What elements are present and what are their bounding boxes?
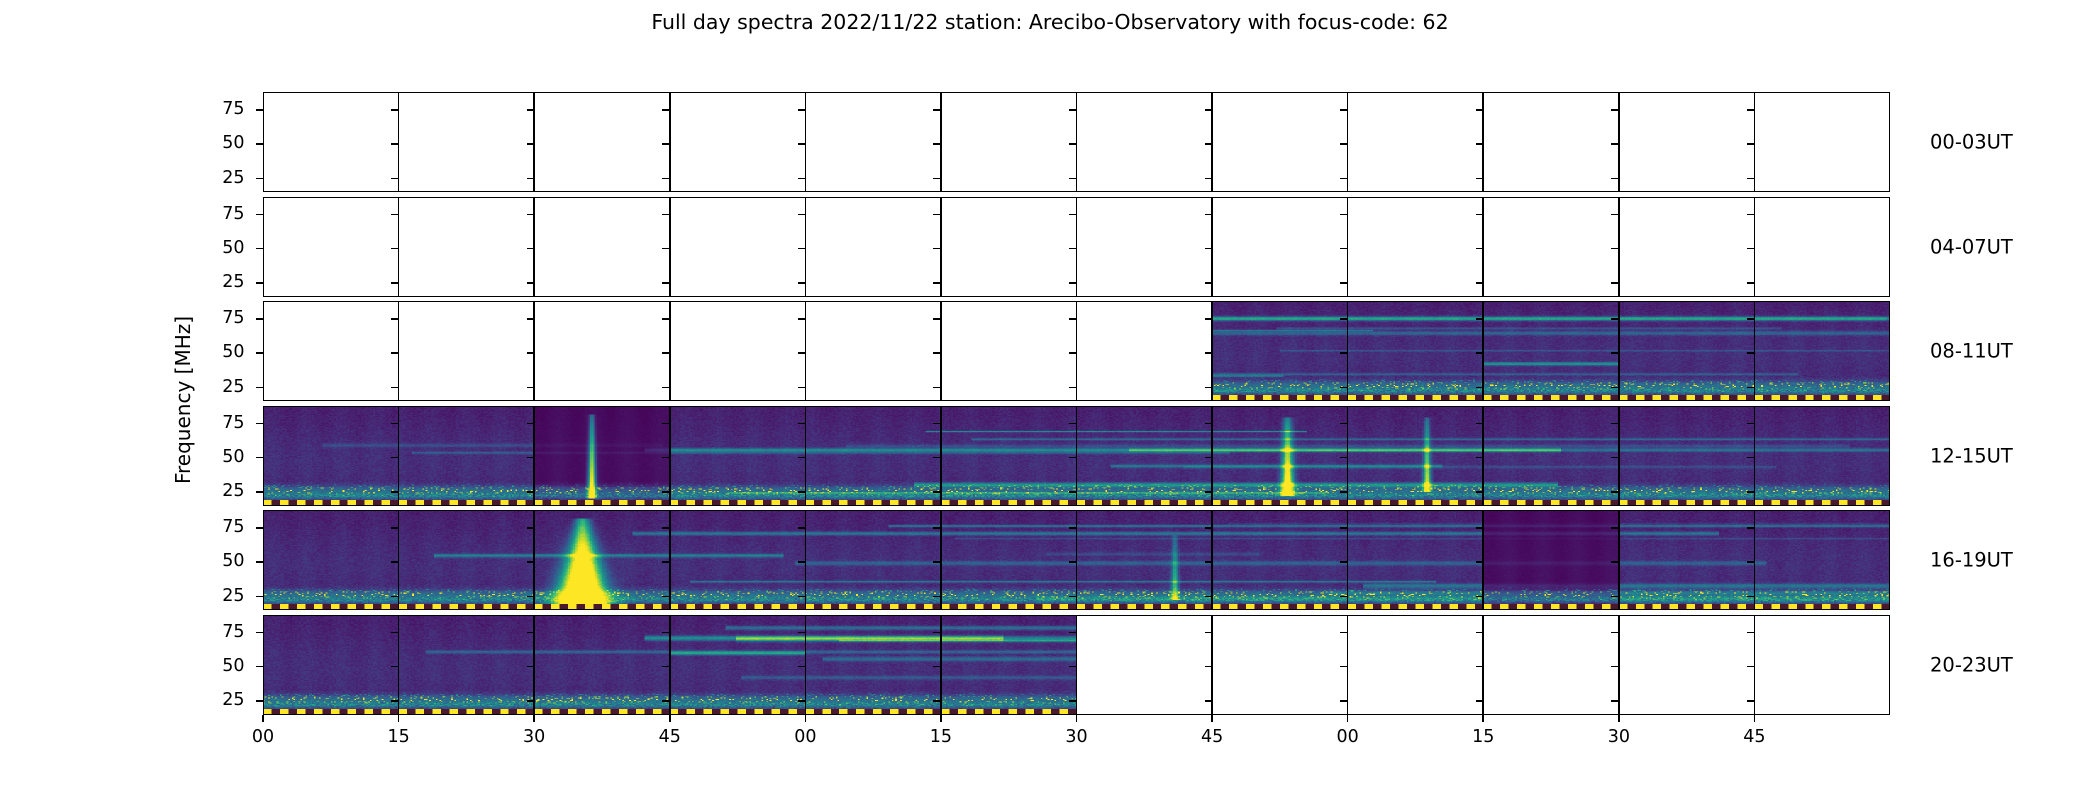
x-tick [398,715,400,723]
y-tick-inner [1476,457,1484,459]
y-tick-inner [1747,318,1755,320]
y-tick-inner [798,352,806,354]
y-tick-inner [1205,282,1213,284]
y-tick-inner [798,423,806,425]
y-tick-inner [662,457,670,459]
y-tick-inner [933,178,941,180]
y-tick: 75 [256,214,264,216]
y-tick: 25 [256,178,264,180]
y-tick-label: 75 [222,308,244,328]
y-tick-label: 25 [222,690,244,710]
y-tick-inner [1069,109,1077,111]
x-tick-label: 00 [1337,727,1359,747]
y-tick-inner [1069,561,1077,563]
y-tick-inner [662,491,670,493]
y-tick-inner [798,282,806,284]
y-tick-inner [1340,318,1348,320]
y-tick-inner [527,423,535,425]
y-tick-inner [1205,352,1213,354]
y-tick-inner [1205,666,1213,668]
y-tick: 75 [256,423,264,425]
y-tick-inner [1611,423,1619,425]
y-tick-inner [798,248,806,250]
y-tick-inner [933,387,941,389]
y-tick-inner [1747,457,1755,459]
y-tick-inner [391,423,399,425]
y-tick-inner [1340,282,1348,284]
y-tick-inner [1747,632,1755,634]
y-tick-inner [1747,527,1755,529]
y-tick-inner [1069,178,1077,180]
y-tick-inner [1611,457,1619,459]
row-label-04-07ut: 04-07UT [1930,235,2013,258]
y-tick-inner [1340,561,1348,563]
x-tick [1347,715,1349,723]
y-tick-inner [527,214,535,216]
y-tick-inner [1069,666,1077,668]
y-tick-inner [527,457,535,459]
spectrogram-row-16-19ut[interactable]: 75502516-19UT [263,510,1890,610]
y-tick-inner [391,282,399,284]
spectrogram-row-00-03ut[interactable]: 75502500-03UT [263,92,1890,192]
y-tick-inner [1069,632,1077,634]
y-tick-inner [662,248,670,250]
y-tick-inner [527,352,535,354]
spectrogram-row-20-23ut[interactable]: 75502520-23UT [263,615,1890,715]
y-tick-inner [1205,109,1213,111]
y-tick-inner [933,700,941,702]
y-tick-inner [1611,143,1619,145]
y-tick-label: 50 [222,551,244,571]
y-tick-inner [1205,423,1213,425]
x-tick [1211,715,1213,723]
y-tick-inner [662,143,670,145]
y-tick-inner [798,561,806,563]
y-tick-inner [391,318,399,320]
y-tick-inner [1476,387,1484,389]
y-tick-inner [798,214,806,216]
y-tick-inner [391,596,399,598]
y-tick-inner [527,491,535,493]
y-tick-inner [391,491,399,493]
spectrogram-figure: Full day spectra 2022/11/22 station: Are… [0,0,2100,800]
row-label-00-03ut: 00-03UT [1930,131,2013,154]
y-tick-inner [1747,214,1755,216]
y-tick-inner [933,109,941,111]
y-tick-inner [1069,527,1077,529]
y-tick-inner [1340,178,1348,180]
y-tick-inner [1340,109,1348,111]
y-tick-inner [527,561,535,563]
y-tick-inner [798,318,806,320]
y-tick-inner [1069,457,1077,459]
x-tick-label: 15 [1472,727,1494,747]
y-tick-inner [1476,632,1484,634]
y-tick-inner [1611,666,1619,668]
y-tick-inner [933,352,941,354]
y-tick: 50 [256,143,264,145]
y-tick-inner [662,387,670,389]
y-tick: 75 [256,318,264,320]
y-tick-inner [798,491,806,493]
y-tick-inner [1069,214,1077,216]
y-tick-inner [1340,457,1348,459]
y-tick-inner [527,527,535,529]
y-tick-label: 75 [222,413,244,433]
y-tick-inner [798,700,806,702]
y-tick-inner [1611,387,1619,389]
y-tick-inner [527,178,535,180]
y-tick-inner [527,632,535,634]
y-tick-inner [1611,561,1619,563]
x-tick-label: 15 [930,727,952,747]
y-tick-inner [1611,700,1619,702]
y-tick-inner [527,387,535,389]
y-tick-inner [1069,491,1077,493]
y-tick-label: 25 [222,272,244,292]
y-tick: 25 [256,387,264,389]
y-tick-inner [1747,491,1755,493]
y-tick-inner [1205,632,1213,634]
x-tick-label: 30 [1608,727,1630,747]
y-tick-inner [933,561,941,563]
y-tick-inner [662,596,670,598]
y-tick-inner [1340,352,1348,354]
y-tick-inner [662,352,670,354]
y-tick-inner [662,109,670,111]
y-tick-inner [1747,352,1755,354]
y-tick-inner [1747,387,1755,389]
y-tick-inner [1747,248,1755,250]
row-label-12-15ut: 12-15UT [1930,444,2013,467]
y-tick-inner [1069,700,1077,702]
y-tick: 75 [256,527,264,529]
y-tick-inner [527,596,535,598]
y-tick-inner [1205,318,1213,320]
x-tick [262,715,264,723]
y-tick: 50 [256,248,264,250]
y-tick-inner [1611,596,1619,598]
y-tick-inner [798,387,806,389]
y-tick: 50 [256,666,264,668]
x-tick [1482,715,1484,723]
y-tick-inner [1476,178,1484,180]
y-tick-inner [1611,527,1619,529]
y-tick: 25 [256,491,264,493]
y-tick-inner [1611,109,1619,111]
y-tick-inner [798,527,806,529]
y-tick-label: 75 [222,204,244,224]
y-tick-inner [527,666,535,668]
y-tick-inner [1205,387,1213,389]
y-tick-inner [1611,178,1619,180]
y-tick-inner [662,700,670,702]
y-tick-inner [1340,423,1348,425]
row-label-20-23ut: 20-23UT [1930,653,2013,676]
y-tick-inner [1340,143,1348,145]
y-tick-inner [1205,596,1213,598]
y-tick-inner [933,457,941,459]
x-tick-label: 00 [252,727,274,747]
y-tick-inner [662,214,670,216]
y-tick-inner [1340,214,1348,216]
y-tick: 75 [256,632,264,634]
x-tick-label: 45 [659,727,681,747]
y-tick-inner [1476,666,1484,668]
y-tick-inner [662,666,670,668]
y-tick-inner [391,632,399,634]
x-tick-label: 00 [794,727,816,747]
y-tick-inner [662,282,670,284]
y-tick-inner [1069,282,1077,284]
y-tick-inner [1611,214,1619,216]
y-tick-inner [1611,632,1619,634]
y-tick-inner [1069,352,1077,354]
y-tick-inner [662,178,670,180]
y-tick-inner [662,423,670,425]
y-tick: 25 [256,596,264,598]
y-tick-inner [933,423,941,425]
y-tick-inner [1476,700,1484,702]
y-tick-inner [1205,214,1213,216]
y-tick-inner [1611,282,1619,284]
y-tick-inner [798,109,806,111]
y-tick: 50 [256,352,264,354]
y-tick-inner [1205,248,1213,250]
y-tick-inner [1476,596,1484,598]
row-label-08-11ut: 08-11UT [1930,340,2013,363]
y-tick-inner [391,178,399,180]
y-tick-inner [933,632,941,634]
y-tick-inner [1340,666,1348,668]
y-tick-inner [1476,352,1484,354]
y-tick-inner [1476,561,1484,563]
y-tick-inner [1476,318,1484,320]
y-tick-inner [1205,491,1213,493]
y-tick-inner [527,700,535,702]
y-tick-inner [662,318,670,320]
y-tick-inner [1747,700,1755,702]
y-tick-inner [391,457,399,459]
x-tick-label: 45 [1201,727,1223,747]
x-axis: 001530450015304500153045 [263,715,1890,755]
spectrogram-row-12-15ut[interactable]: 75502512-15UT [263,406,1890,506]
y-tick-inner [1747,109,1755,111]
y-tick-label: 50 [222,656,244,676]
y-tick-label: 25 [222,168,244,188]
y-tick-inner [391,352,399,354]
x-tick [1618,715,1620,723]
y-tick-inner [933,214,941,216]
y-tick-inner [391,700,399,702]
y-tick-inner [1069,387,1077,389]
x-tick-label: 30 [1065,727,1087,747]
y-tick-inner [527,248,535,250]
y-tick-inner [1476,143,1484,145]
y-tick-inner [1340,527,1348,529]
y-tick-inner [798,596,806,598]
x-tick [940,715,942,723]
y-tick-label: 75 [222,622,244,642]
y-tick: 25 [256,700,264,702]
y-tick-label: 75 [222,99,244,119]
y-tick-inner [391,561,399,563]
y-axis-label: Frequency [MHz] [171,316,195,484]
y-tick-inner [391,387,399,389]
y-tick-inner [527,109,535,111]
y-tick-inner [1205,178,1213,180]
y-tick-inner [798,666,806,668]
y-tick-inner [527,143,535,145]
y-tick-inner [1747,423,1755,425]
y-tick-inner [1205,700,1213,702]
x-tick-label: 30 [523,727,545,747]
y-tick-inner [391,214,399,216]
y-tick: 25 [256,282,264,284]
y-tick-inner [1205,561,1213,563]
y-tick-inner [1476,248,1484,250]
y-tick-inner [1069,596,1077,598]
y-tick-inner [662,527,670,529]
y-tick-inner [1747,561,1755,563]
y-tick-label: 75 [222,517,244,537]
y-tick-inner [1476,282,1484,284]
y-tick-inner [933,596,941,598]
y-tick-inner [798,143,806,145]
x-tick [1076,715,1078,723]
y-tick-inner [1476,109,1484,111]
x-tick [533,715,535,723]
y-tick-inner [1069,143,1077,145]
y-tick-inner [1747,666,1755,668]
y-tick-label: 25 [222,481,244,501]
y-tick-inner [798,178,806,180]
row-label-16-19ut: 16-19UT [1930,549,2013,572]
y-tick-inner [1340,491,1348,493]
y-tick-inner [1476,491,1484,493]
y-tick-inner [662,561,670,563]
y-tick: 50 [256,561,264,563]
x-tick [669,715,671,723]
x-tick [805,715,807,723]
y-tick-inner [1747,282,1755,284]
y-tick: 50 [256,457,264,459]
y-tick-inner [1205,527,1213,529]
y-tick-inner [391,248,399,250]
y-tick-label: 25 [222,586,244,606]
y-tick-inner [527,318,535,320]
y-tick-inner [1340,632,1348,634]
y-tick-label: 25 [222,377,244,397]
y-tick-inner [798,632,806,634]
x-tick-label: 45 [1743,727,1765,747]
y-tick-inner [527,282,535,284]
y-tick-inner [798,457,806,459]
y-tick-label: 50 [222,133,244,153]
x-tick [1754,715,1756,723]
y-tick-inner [933,248,941,250]
y-tick-inner [1476,527,1484,529]
y-tick: 75 [256,109,264,111]
y-tick-inner [933,666,941,668]
y-tick-inner [662,632,670,634]
y-tick-inner [1069,318,1077,320]
y-tick-inner [1205,457,1213,459]
y-tick-inner [933,143,941,145]
y-tick-inner [1747,143,1755,145]
y-tick-inner [391,666,399,668]
y-tick-inner [391,527,399,529]
y-tick-label: 50 [222,238,244,258]
y-tick-inner [1340,596,1348,598]
spectrogram-row-08-11ut[interactable]: 75502508-11UT [263,301,1890,401]
y-tick-inner [1205,143,1213,145]
y-tick-inner [391,109,399,111]
y-tick-inner [933,318,941,320]
y-tick-inner [1611,318,1619,320]
y-tick-label: 50 [222,342,244,362]
y-tick-inner [1476,423,1484,425]
y-tick-inner [1476,214,1484,216]
spectrogram-row-04-07ut[interactable]: 75502504-07UT [263,197,1890,297]
y-tick-label: 50 [222,447,244,467]
y-tick-inner [1340,387,1348,389]
y-tick-inner [1069,248,1077,250]
y-tick-inner [1611,352,1619,354]
y-tick-inner [1611,491,1619,493]
y-tick-inner [933,282,941,284]
page-title: Full day spectra 2022/11/22 station: Are… [0,10,2100,34]
y-tick-inner [1611,248,1619,250]
y-tick-inner [1747,178,1755,180]
y-tick-inner [1340,248,1348,250]
y-tick-inner [1747,596,1755,598]
y-tick-inner [391,143,399,145]
y-tick-inner [933,491,941,493]
y-tick-inner [1069,423,1077,425]
y-tick-inner [933,527,941,529]
x-tick-label: 15 [387,727,409,747]
y-tick-inner [1340,700,1348,702]
